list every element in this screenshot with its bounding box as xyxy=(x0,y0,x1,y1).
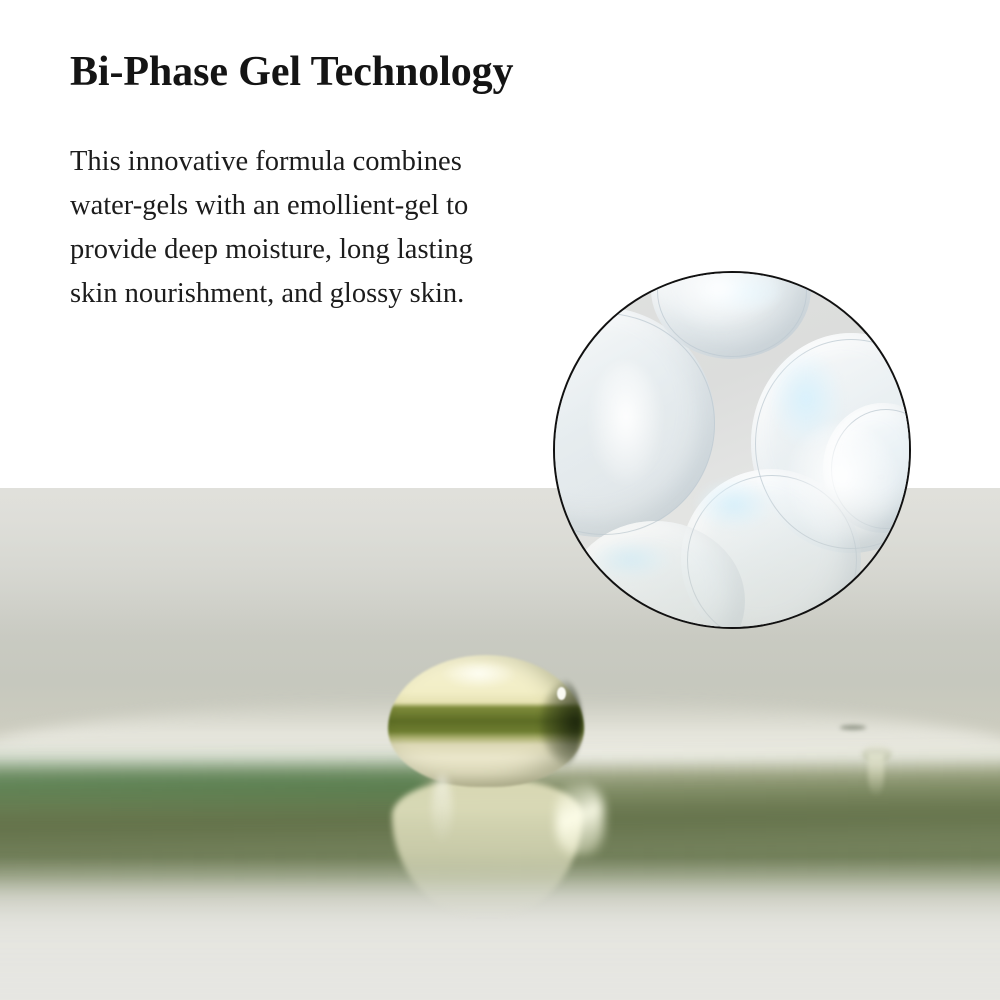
reflection-stem-highlight xyxy=(432,775,452,845)
promo-graphic: Bi-Phase Gel Technology This innovative … xyxy=(0,0,1000,1000)
page-title: Bi-Phase Gel Technology xyxy=(70,48,540,98)
droplet-reflection xyxy=(392,779,582,919)
highlight-left-white xyxy=(591,363,661,483)
secondary-droplet-tail xyxy=(868,753,884,797)
inset-base-tint xyxy=(555,485,909,627)
green-liquid-band-left xyxy=(0,749,430,819)
circular-macro-inset xyxy=(553,271,911,629)
droplet-specular-dot xyxy=(557,687,566,700)
secondary-droplet-dash xyxy=(840,725,866,730)
reflection-specular-highlight xyxy=(556,783,604,855)
gel-droplet xyxy=(388,655,584,787)
body-paragraph: This innovative formula combines water-g… xyxy=(70,140,510,316)
droplet-top-highlight xyxy=(440,663,518,689)
copy-block: Bi-Phase Gel Technology This innovative … xyxy=(70,48,540,316)
